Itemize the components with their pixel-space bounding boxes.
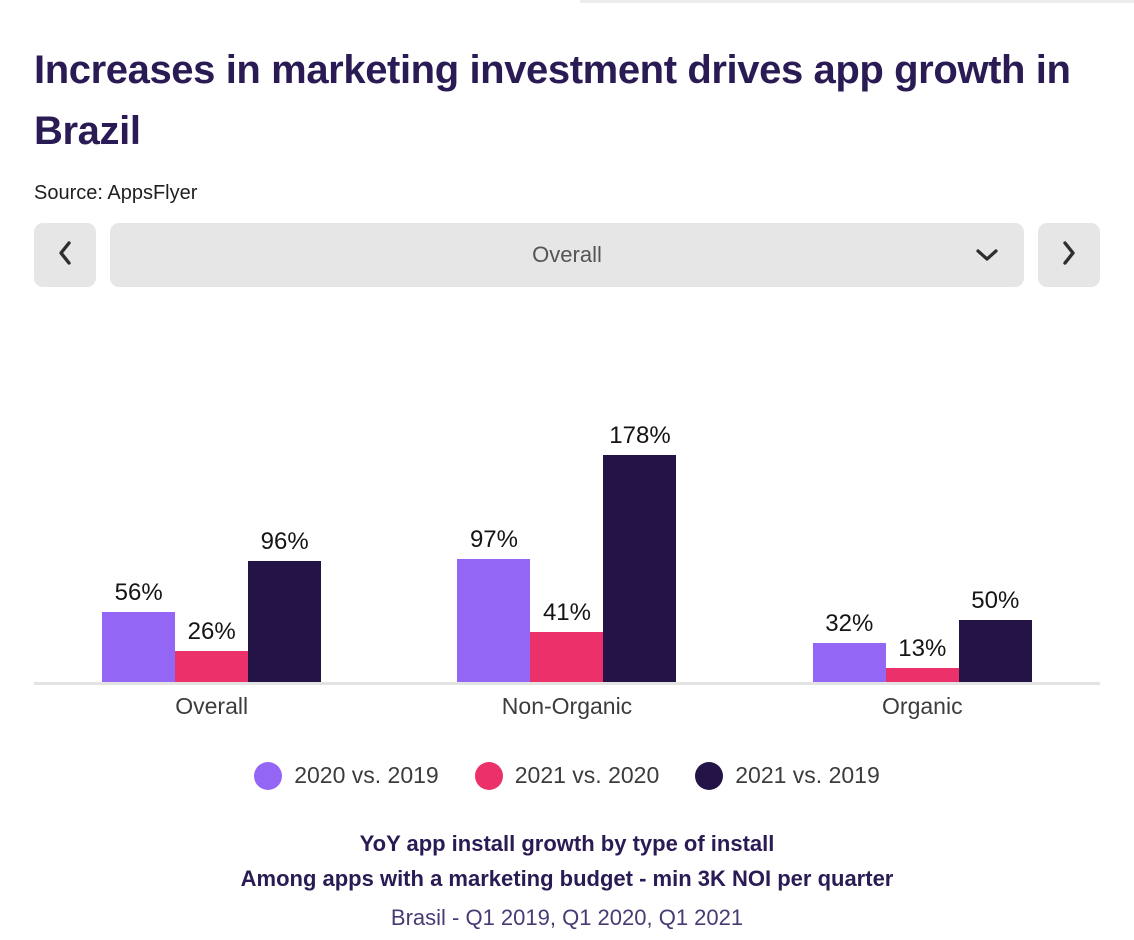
chart-legend: 2020 vs. 20192021 vs. 20202021 vs. 2019 bbox=[34, 762, 1100, 790]
category-select[interactable]: Overall bbox=[110, 223, 1024, 287]
bar-groups: 56%26%96%97%41%178%32%13%50% bbox=[34, 385, 1100, 685]
category-select-value: Overall bbox=[532, 242, 602, 268]
bar-item[interactable]: 32% bbox=[813, 643, 886, 684]
bar[interactable] bbox=[959, 620, 1032, 685]
bar-item[interactable]: 41% bbox=[530, 632, 603, 685]
bar[interactable] bbox=[175, 651, 248, 685]
bar[interactable] bbox=[530, 632, 603, 685]
bar[interactable] bbox=[248, 561, 321, 685]
legend-item[interactable]: 2020 vs. 2019 bbox=[254, 762, 439, 790]
caption-line-3: Brasil - Q1 2019, Q1 2020, Q1 2021 bbox=[34, 900, 1100, 936]
bar-chart: 56%26%96%97%41%178%32%13%50% bbox=[34, 325, 1100, 685]
chart-captions: YoY app install growth by type of instal… bbox=[34, 826, 1100, 936]
caption-line-1: YoY app install growth by type of instal… bbox=[34, 826, 1100, 862]
legend-item[interactable]: 2021 vs. 2019 bbox=[695, 762, 880, 790]
bar-item[interactable]: 50% bbox=[959, 620, 1032, 685]
bar[interactable] bbox=[603, 455, 676, 685]
bar-item[interactable]: 178% bbox=[603, 455, 676, 685]
bar-value-label: 96% bbox=[261, 528, 309, 556]
legend-label: 2021 vs. 2019 bbox=[735, 762, 880, 789]
chevron-down-icon[interactable] bbox=[974, 247, 1000, 263]
bar-item[interactable]: 56% bbox=[102, 612, 175, 684]
x-axis-line bbox=[34, 682, 1100, 685]
bar-item[interactable]: 26% bbox=[175, 651, 248, 685]
page-title: Increases in marketing investment drives… bbox=[34, 0, 1074, 162]
bar-group: 32%13%50% bbox=[745, 385, 1100, 685]
bar-value-label: 13% bbox=[898, 635, 946, 663]
previous-button[interactable] bbox=[34, 223, 96, 287]
category-axis-labels: OverallNon-OrganicOrganic bbox=[34, 693, 1100, 720]
category-label: Organic bbox=[745, 693, 1100, 720]
bar-value-label: 50% bbox=[971, 587, 1019, 615]
legend-label: 2021 vs. 2020 bbox=[515, 762, 660, 789]
legend-swatch-icon bbox=[695, 762, 723, 790]
next-button[interactable] bbox=[1038, 223, 1100, 287]
chevron-left-icon bbox=[57, 240, 73, 269]
category-label: Non-Organic bbox=[389, 693, 744, 720]
bar-item[interactable]: 97% bbox=[457, 559, 530, 684]
bar-value-label: 56% bbox=[115, 579, 163, 607]
legend-swatch-icon bbox=[254, 762, 282, 790]
bar[interactable] bbox=[457, 559, 530, 684]
plot-area: 56%26%96%97%41%178%32%13%50% bbox=[34, 385, 1100, 685]
page-root: Increases in marketing investment drives… bbox=[0, 0, 1134, 940]
bar[interactable] bbox=[813, 643, 886, 684]
bar-value-label: 32% bbox=[825, 610, 873, 638]
chevron-right-icon bbox=[1061, 240, 1077, 269]
source-label: Source: AppsFlyer bbox=[34, 162, 1100, 205]
bar-item[interactable]: 96% bbox=[248, 561, 321, 685]
bar-value-label: 41% bbox=[543, 599, 591, 627]
legend-swatch-icon bbox=[475, 762, 503, 790]
bar-value-label: 26% bbox=[188, 618, 236, 646]
bar-group: 56%26%96% bbox=[34, 385, 389, 685]
bar[interactable] bbox=[102, 612, 175, 684]
caption-line-2: Among apps with a marketing budget - min… bbox=[34, 861, 1100, 897]
bar-value-label: 97% bbox=[470, 526, 518, 554]
category-label: Overall bbox=[34, 693, 389, 720]
legend-item[interactable]: 2021 vs. 2020 bbox=[475, 762, 660, 790]
bar-value-label: 178% bbox=[609, 422, 670, 450]
bar-group: 97%41%178% bbox=[389, 385, 744, 685]
legend-label: 2020 vs. 2019 bbox=[294, 762, 439, 789]
category-selector-row: Overall bbox=[34, 223, 1100, 287]
